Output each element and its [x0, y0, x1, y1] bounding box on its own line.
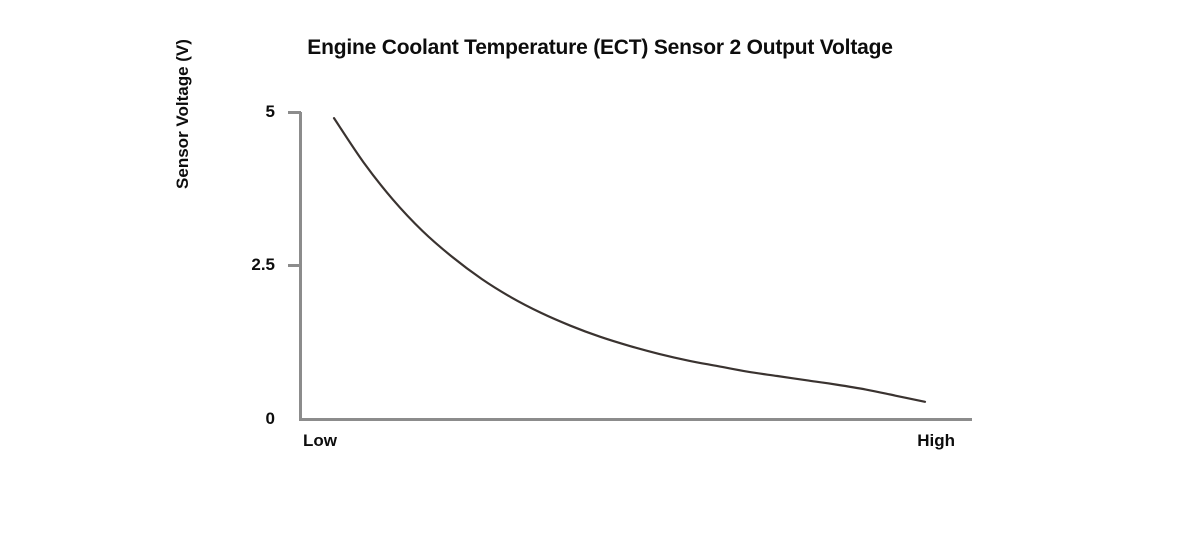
plot-area: [0, 0, 1200, 560]
chart-figure: Engine Coolant Temperature (ECT) Sensor …: [0, 0, 1200, 560]
data-curve-ect-sensor-2: [334, 118, 925, 402]
axis-lines: [299, 112, 972, 420]
